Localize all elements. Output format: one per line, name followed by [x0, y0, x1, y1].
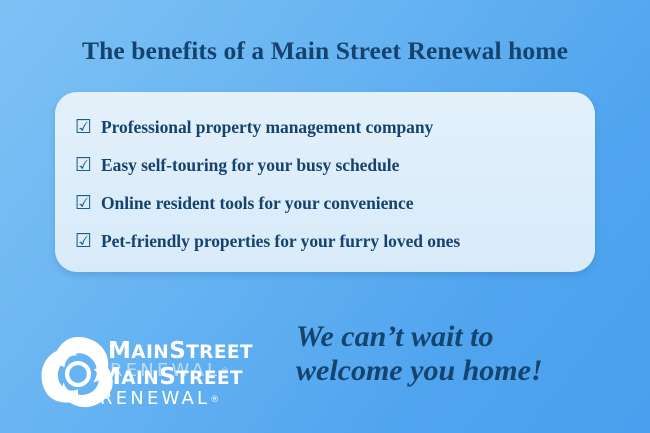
checkbox-checked-icon: ☑ — [75, 232, 101, 251]
logo-wordmark-mainstreet: MAINSTREET — [98, 366, 243, 389]
list-item: ☑ Online resident tools for your conveni… — [75, 184, 585, 222]
promo-poster: The benefits of a Main Street Renewal ho… — [0, 0, 650, 433]
checkbox-checked-icon: ☑ — [75, 156, 101, 175]
list-item-label: Pet-friendly properties for your furry l… — [101, 231, 460, 252]
logo-letters-treet: TREET — [176, 368, 243, 389]
tagline-line-2: welcome you home! — [296, 354, 616, 388]
logo-letters-ain: AIN — [121, 368, 159, 389]
logo-wordmark-renewal: RENEWAL® — [100, 390, 219, 408]
logo-renewal-text: RENEWAL — [100, 388, 210, 409]
tagline: We can’t wait to welcome you home! — [296, 320, 616, 387]
brand-logo: MAINSTREET RENEWAL® MAINSTREET RENEWAL® — [36, 326, 276, 422]
benefits-list: ☑ Professional property management compa… — [75, 108, 585, 260]
list-item: ☑ Professional property management compa… — [75, 108, 585, 146]
list-item-label: Easy self-touring for your busy schedule — [101, 155, 399, 176]
logo-letter-m: M — [98, 364, 121, 390]
list-item: ☑ Easy self-touring for your busy schedu… — [75, 146, 585, 184]
benefits-card: ☑ Professional property management compa… — [55, 92, 595, 272]
registered-trademark-icon: ® — [210, 395, 219, 405]
tagline-line-1: We can’t wait to — [296, 320, 616, 354]
checkbox-checked-icon: ☑ — [75, 194, 101, 213]
checkbox-checked-icon: ☑ — [75, 118, 101, 137]
list-item-label: Professional property management company — [101, 117, 433, 138]
list-item-label: Online resident tools for your convenien… — [101, 193, 413, 214]
logo-letter-s: S — [159, 364, 176, 390]
page-title: The benefits of a Main Street Renewal ho… — [0, 36, 650, 66]
list-item: ☑ Pet-friendly properties for your furry… — [75, 222, 585, 260]
